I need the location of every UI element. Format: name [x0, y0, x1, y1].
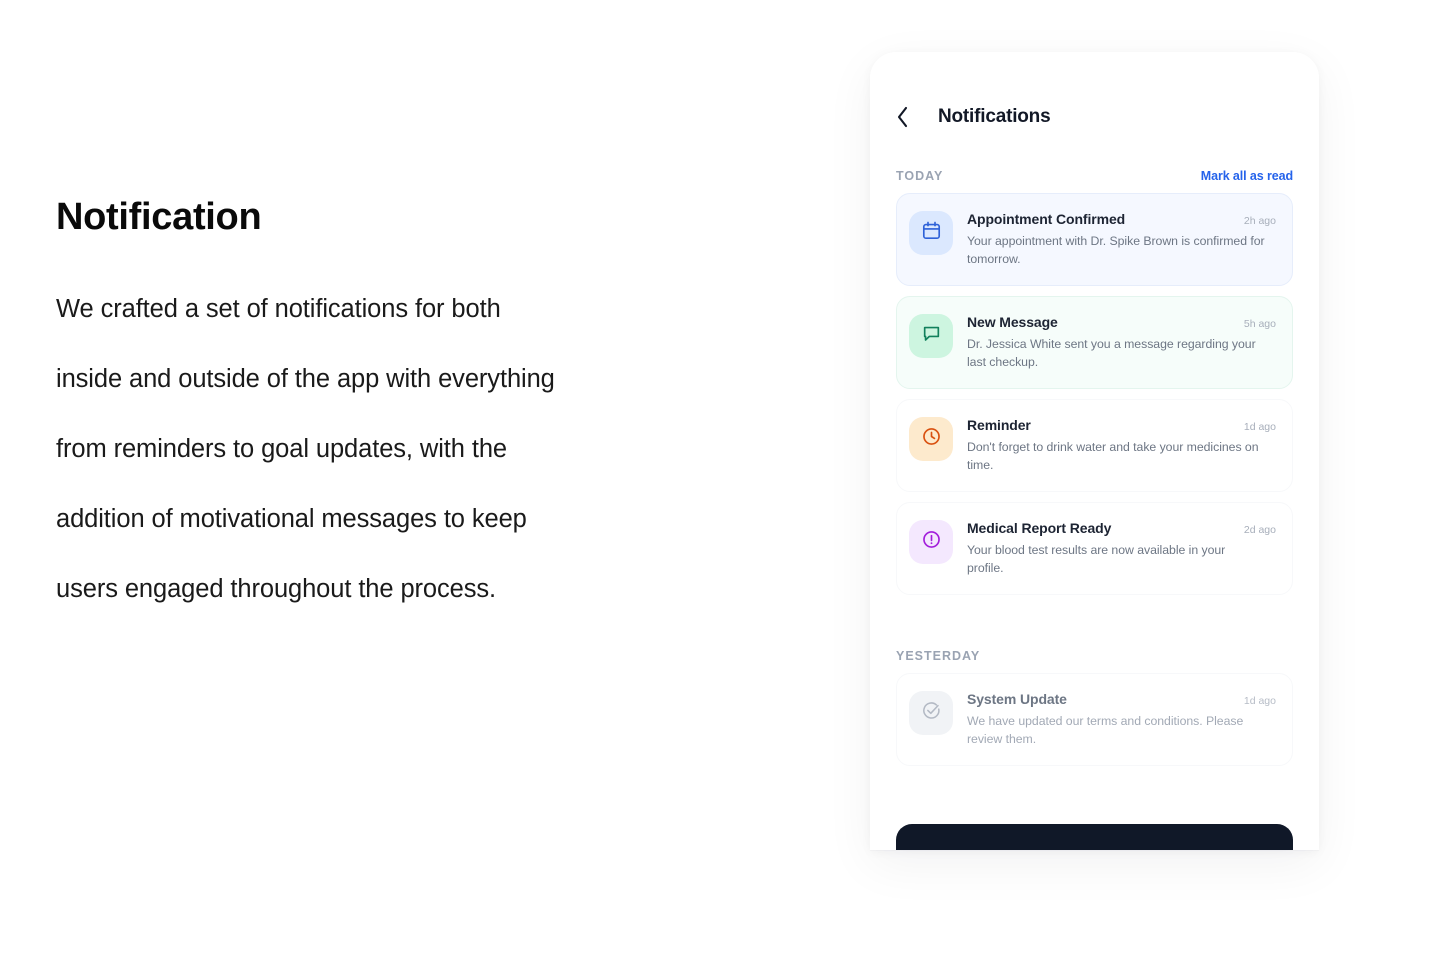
page-canvas: Notification We crafted a set of notific… — [0, 0, 1440, 968]
notification-item[interactable]: Reminder 1d ago Don't forget to drink wa… — [896, 399, 1293, 492]
notification-title: Appointment Confirmed — [967, 211, 1125, 227]
notification-description: Dr. Jessica White sent you a message reg… — [967, 335, 1265, 371]
notification-icon-tile — [909, 417, 953, 461]
notifications-screen: Notifications TODAY Mark all as read — [870, 52, 1319, 850]
back-button[interactable] — [896, 104, 918, 130]
notification-top-row: New Message 5h ago — [967, 314, 1276, 330]
phone-mockup: Notifications TODAY Mark all as read — [870, 52, 1319, 850]
message-icon — [921, 323, 942, 349]
notification-top-row: Medical Report Ready 2d ago — [967, 520, 1276, 536]
notification-title: Reminder — [967, 417, 1031, 433]
notification-title: New Message — [967, 314, 1058, 330]
screen-title: Notifications — [938, 106, 1050, 128]
calendar-icon — [921, 220, 942, 246]
check-circle-icon — [921, 700, 942, 726]
bottom-cta-button[interactable] — [896, 824, 1293, 850]
notification-body: Medical Report Ready 2d ago Your blood t… — [967, 519, 1276, 577]
section-label-yesterday: YESTERDAY — [896, 649, 980, 663]
notification-body: Appointment Confirmed 2h ago Your appoin… — [967, 210, 1276, 268]
clock-icon — [921, 426, 942, 452]
notification-title: Medical Report Ready — [967, 520, 1111, 536]
notification-description: Don't forget to drink water and take you… — [967, 438, 1265, 474]
copy-block: Notification We crafted a set of notific… — [56, 196, 776, 624]
page-title: Notification — [56, 196, 776, 240]
notification-item[interactable]: New Message 5h ago Dr. Jessica White sen… — [896, 296, 1293, 389]
alert-circle-icon — [921, 529, 942, 555]
notification-icon-tile — [909, 314, 953, 358]
notification-body: New Message 5h ago Dr. Jessica White sen… — [967, 313, 1276, 371]
notification-top-row: System Update 1d ago — [967, 691, 1276, 707]
notification-list-today: Appointment Confirmed 2h ago Your appoin… — [870, 193, 1319, 595]
app-header: Notifications — [870, 52, 1319, 130]
notification-item[interactable]: Appointment Confirmed 2h ago Your appoin… — [896, 193, 1293, 286]
mark-all-as-read-button[interactable]: Mark all as read — [1201, 169, 1293, 183]
notification-description: Your blood test results are now availabl… — [967, 541, 1265, 577]
notification-icon-tile — [909, 691, 953, 735]
section-label-today: TODAY — [896, 169, 943, 183]
notification-top-row: Appointment Confirmed 2h ago — [967, 211, 1276, 227]
notification-timestamp: 5h ago — [1244, 318, 1276, 330]
notification-description: Your appointment with Dr. Spike Brown is… — [967, 232, 1265, 268]
section-header-today: TODAY Mark all as read — [870, 169, 1319, 183]
notification-list-yesterday: System Update 1d ago We have updated our… — [870, 673, 1319, 766]
notification-title: System Update — [967, 691, 1067, 707]
notification-timestamp: 2d ago — [1244, 524, 1276, 536]
notification-timestamp: 2h ago — [1244, 215, 1276, 227]
chevron-left-icon — [896, 106, 909, 128]
notification-icon-tile — [909, 520, 953, 564]
notification-body: Reminder 1d ago Don't forget to drink wa… — [967, 416, 1276, 474]
notification-item[interactable]: System Update 1d ago We have updated our… — [896, 673, 1293, 766]
page-description: We crafted a set of notifications for bo… — [56, 274, 776, 624]
section-header-yesterday: YESTERDAY — [870, 649, 1319, 663]
notification-timestamp: 1d ago — [1244, 695, 1276, 707]
notification-timestamp: 1d ago — [1244, 421, 1276, 433]
notification-description: We have updated our terms and conditions… — [967, 712, 1265, 748]
notification-body: System Update 1d ago We have updated our… — [967, 690, 1276, 748]
notification-top-row: Reminder 1d ago — [967, 417, 1276, 433]
notification-icon-tile — [909, 211, 953, 255]
notification-item[interactable]: Medical Report Ready 2d ago Your blood t… — [896, 502, 1293, 595]
